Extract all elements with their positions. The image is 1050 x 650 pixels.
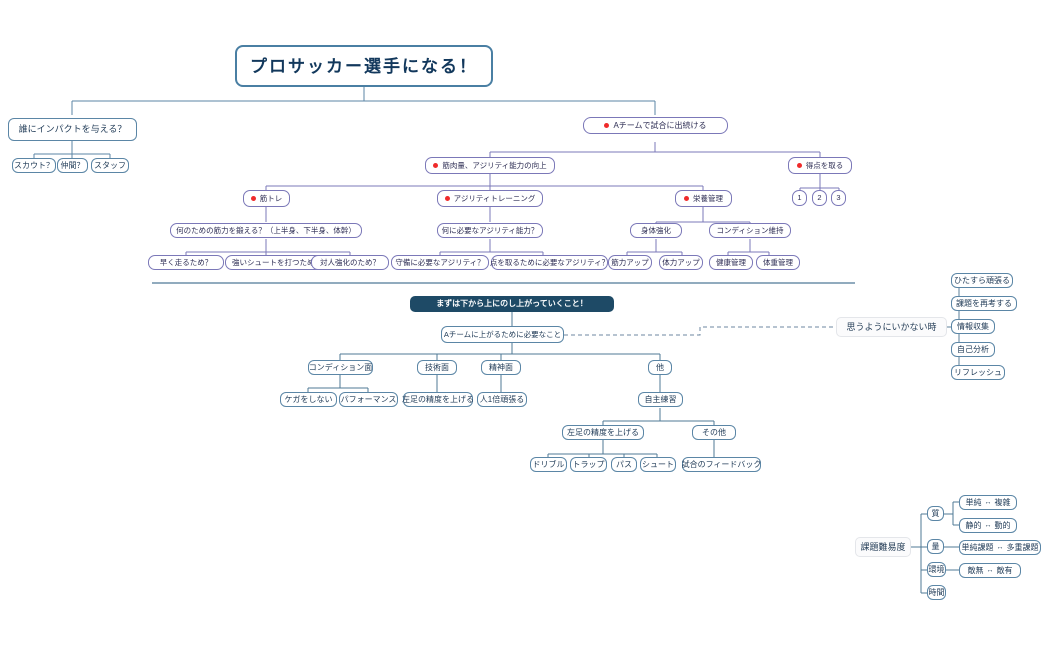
node-stamina-up[interactable]: 体力アップ xyxy=(659,255,703,270)
node-mental-aspect-label: 精神面 xyxy=(489,364,513,372)
node-muscle-up-label: 筋力アップ xyxy=(611,259,649,267)
node-strength-leaf-3-label: 対人強化のため？ xyxy=(320,259,380,267)
red-dot-icon xyxy=(251,196,256,201)
node-axis-quality[interactable]: 質 xyxy=(927,506,944,521)
node-stamina-up-label: 体力アップ xyxy=(662,259,700,267)
node-axis-quantity-label: 量 xyxy=(932,543,940,551)
node-strength-leaf-2-label: 強いシュートを打つため？ xyxy=(232,259,322,267)
node-health-management[interactable]: 健康管理 xyxy=(709,255,753,270)
node-agility-leaf-2-label: 点を取るために必要なアジリティ？ xyxy=(490,259,609,267)
node-impact-head-label: 誰にインパクトを与える？ xyxy=(19,125,127,134)
node-condition-maintenance[interactable]: コンディション維持 xyxy=(709,223,791,238)
node-score-3-label: 3 xyxy=(836,194,840,202)
node-lower-head[interactable]: Aチームに上がるために必要なこと xyxy=(441,326,564,343)
node-left-foot-accuracy-label: 左足の精度を上げる xyxy=(402,396,474,404)
node-left-foot-accuracy[interactable]: 左足の精度を上げる xyxy=(403,392,473,407)
node-dribble[interactable]: ドリブル xyxy=(530,457,567,472)
node-trouble-head[interactable]: 思うようにいかない時 xyxy=(836,317,947,337)
node-impact-head[interactable]: 誰にインパクトを与える？ xyxy=(8,118,137,141)
scale-right-label: 多重課題 xyxy=(1007,544,1039,552)
node-staff[interactable]: スタッフ xyxy=(91,158,129,173)
red-dot-icon xyxy=(684,196,689,201)
node-pass[interactable]: パス xyxy=(611,457,637,472)
banner-node[interactable]: まずは下から上にのし上がっていくこと！ xyxy=(410,296,614,312)
node-trouble-opt-2[interactable]: 課題を再考する xyxy=(951,296,1017,311)
node-score-label: 得点を取る xyxy=(806,162,844,170)
node-difficulty-head[interactable]: 課題難易度 xyxy=(855,537,911,557)
node-ateam-head[interactable]: Aチームで試合に出続ける xyxy=(583,117,728,134)
node-left-foot-accuracy-sub[interactable]: 左足の精度を上げる xyxy=(562,425,644,440)
node-trouble-opt-4-label: 自己分析 xyxy=(957,346,989,354)
node-scale-no-enemy-enemy[interactable]: 敵無 ↔ 敵有 xyxy=(959,563,1021,578)
node-score-2-label: 2 xyxy=(817,194,821,202)
scale-right-label: 複雑 xyxy=(995,499,1011,507)
node-score[interactable]: 得点を取る xyxy=(788,157,852,174)
scale-left-label: 単純 xyxy=(966,499,982,507)
red-dot-icon xyxy=(445,196,450,201)
node-match-feedback[interactable]: 試合のフィードバック xyxy=(682,457,761,472)
node-muscle-up[interactable]: 筋力アップ xyxy=(608,255,652,270)
node-match-feedback-label: 試合のフィードバック xyxy=(682,461,762,469)
red-dot-icon xyxy=(433,163,438,168)
node-nutrition-label: 栄養管理 xyxy=(693,195,723,203)
node-teammate[interactable]: 仲間？ xyxy=(57,158,88,173)
node-strength-training-label: 筋トレ xyxy=(260,195,283,203)
node-sonota-label: その他 xyxy=(702,429,726,437)
node-score-2[interactable]: 2 xyxy=(812,190,827,206)
node-staff-label: スタッフ xyxy=(94,162,126,170)
node-muscle[interactable]: 筋肉量、アジリティ能力の向上 xyxy=(425,157,555,174)
node-dribble-label: ドリブル xyxy=(533,461,565,469)
node-strength-question[interactable]: 何のための筋力を鍛える？（上半身、下半身、体幹） xyxy=(170,223,362,238)
double-arrow-icon: ↔ xyxy=(994,544,1007,551)
node-mental-aspect[interactable]: 精神面 xyxy=(481,360,521,375)
double-arrow-icon: ↔ xyxy=(984,567,997,574)
node-trap[interactable]: トラップ xyxy=(570,457,607,472)
node-teammate-label: 仲間？ xyxy=(61,162,85,170)
node-other-aspect[interactable]: 他 xyxy=(648,360,672,375)
node-axis-time[interactable]: 時間 xyxy=(927,585,946,600)
node-agility-training[interactable]: アジリティトレーニング xyxy=(437,190,543,207)
node-trouble-opt-5[interactable]: リフレッシュ xyxy=(951,365,1005,380)
node-trouble-opt-1[interactable]: ひたすら頑張る xyxy=(951,273,1013,288)
node-strength-leaf-1-label: 早く走るため？ xyxy=(160,259,213,267)
scale-left-label: 単純課題 xyxy=(962,544,994,552)
double-arrow-icon: ↔ xyxy=(982,522,995,529)
node-scale-static-dynamic[interactable]: 静的 ↔ 動的 xyxy=(959,518,1017,533)
node-axis-quantity[interactable]: 量 xyxy=(927,539,944,554)
node-difficulty-head-label: 課題難易度 xyxy=(861,543,906,552)
node-left-foot-accuracy-sub-label: 左足の精度を上げる xyxy=(567,429,639,437)
node-shoot-label: シュート xyxy=(642,461,674,469)
node-trap-label: トラップ xyxy=(573,461,605,469)
node-condition-maintenance-label: コンディション維持 xyxy=(717,227,784,235)
node-scout-label: スカウト？ xyxy=(14,162,54,170)
node-technical-aspect-label: 技術面 xyxy=(425,364,449,372)
node-self-practice-label: 自主練習 xyxy=(645,396,677,404)
node-agility-leaf-1-label: 守備に必要なアジリティ？ xyxy=(395,259,484,267)
scale-right-label: 動的 xyxy=(995,522,1011,530)
scale-left-label: 敵無 xyxy=(968,567,984,575)
node-performance-label: パフォーマンス xyxy=(341,396,397,404)
node-trouble-opt-2-label: 課題を再考する xyxy=(956,300,1012,308)
node-shoot[interactable]: シュート xyxy=(640,457,676,472)
node-trouble-opt-1-label: ひたすら頑張る xyxy=(954,277,1010,285)
node-no-injury-label: ケガをしない xyxy=(285,396,333,404)
node-weight-management[interactable]: 体重管理 xyxy=(756,255,800,270)
node-score-3[interactable]: 3 xyxy=(831,190,846,206)
node-muscle-label: 筋肉量、アジリティ能力の向上 xyxy=(442,162,546,170)
node-ateam-head-label: Aチームで試合に出続ける xyxy=(613,122,706,130)
node-strength-leaf-1[interactable]: 早く走るため？ xyxy=(148,255,224,270)
node-condition-aspect-label: コンディション面 xyxy=(309,364,372,372)
node-axis-quality-label: 質 xyxy=(932,510,940,518)
node-trouble-opt-4[interactable]: 自己分析 xyxy=(951,342,995,357)
red-dot-icon xyxy=(797,163,802,168)
node-body-strengthening[interactable]: 身体強化 xyxy=(630,223,682,238)
node-trouble-opt-5-label: リフレッシュ xyxy=(954,369,1002,377)
node-agility-question-label: 何に必要なアジリティ能力？ xyxy=(442,227,539,235)
node-other-aspect-label: 他 xyxy=(656,364,664,372)
node-body-strengthening-label: 身体強化 xyxy=(641,227,671,235)
node-agility-question[interactable]: 何に必要なアジリティ能力？ xyxy=(437,223,543,238)
node-agility-training-label: アジリティトレーニング xyxy=(454,195,536,203)
node-work-harder-label: 人1倍頑張る xyxy=(480,396,524,404)
scale-right-label: 敵有 xyxy=(997,567,1013,575)
node-work-harder[interactable]: 人1倍頑張る xyxy=(477,392,527,407)
scale-left-label: 静的 xyxy=(966,522,982,530)
node-strength-leaf-3[interactable]: 対人強化のため？ xyxy=(311,255,389,270)
node-sonota[interactable]: その他 xyxy=(692,425,736,440)
mindmap-canvas: プロサッカー選手になる！ 誰にインパクトを与える？ スカウト？ 仲間？ スタッフ… xyxy=(0,0,1050,650)
node-agility-leaf-1[interactable]: 守備に必要なアジリティ？ xyxy=(391,255,489,270)
node-axis-environment[interactable]: 環境 xyxy=(927,562,946,577)
node-self-practice[interactable]: 自主練習 xyxy=(638,392,683,407)
node-pass-label: パス xyxy=(616,461,632,469)
node-score-1[interactable]: 1 xyxy=(792,190,807,206)
node-performance[interactable]: パフォーマンス xyxy=(339,392,398,407)
node-no-injury[interactable]: ケガをしない xyxy=(280,392,337,407)
node-trouble-opt-3[interactable]: 情報収集 xyxy=(951,319,995,334)
node-strength-training[interactable]: 筋トレ xyxy=(243,190,290,207)
node-scale-single-multi-task[interactable]: 単純課題 ↔ 多重課題 xyxy=(959,540,1041,555)
node-scout[interactable]: スカウト？ xyxy=(12,158,56,173)
node-scale-simple-complex[interactable]: 単純 ↔ 複雑 xyxy=(959,495,1017,510)
root-node[interactable]: プロサッカー選手になる！ xyxy=(235,45,493,87)
red-dot-icon xyxy=(604,123,609,128)
root-label: プロサッカー選手になる！ xyxy=(250,58,478,75)
node-lower-head-label: Aチームに上がるために必要なこと xyxy=(444,331,561,339)
node-trouble-head-label: 思うようにいかない時 xyxy=(846,323,936,332)
node-axis-time-label: 時間 xyxy=(929,589,945,597)
node-health-management-label: 健康管理 xyxy=(716,259,746,267)
node-strength-question-label: 何のための筋力を鍛える？（上半身、下半身、体幹） xyxy=(176,227,356,235)
node-trouble-opt-3-label: 情報収集 xyxy=(957,323,989,331)
node-condition-aspect[interactable]: コンディション面 xyxy=(308,360,373,375)
banner-label: まずは下から上にのし上がっていくこと！ xyxy=(436,300,588,308)
node-score-1-label: 1 xyxy=(797,194,801,202)
double-arrow-icon: ↔ xyxy=(982,499,995,506)
node-technical-aspect[interactable]: 技術面 xyxy=(417,360,457,375)
node-agility-leaf-2[interactable]: 点を取るために必要なアジリティ？ xyxy=(491,255,608,270)
node-nutrition[interactable]: 栄養管理 xyxy=(675,190,732,207)
node-weight-management-label: 体重管理 xyxy=(763,259,793,267)
node-axis-environment-label: 環境 xyxy=(929,566,945,574)
